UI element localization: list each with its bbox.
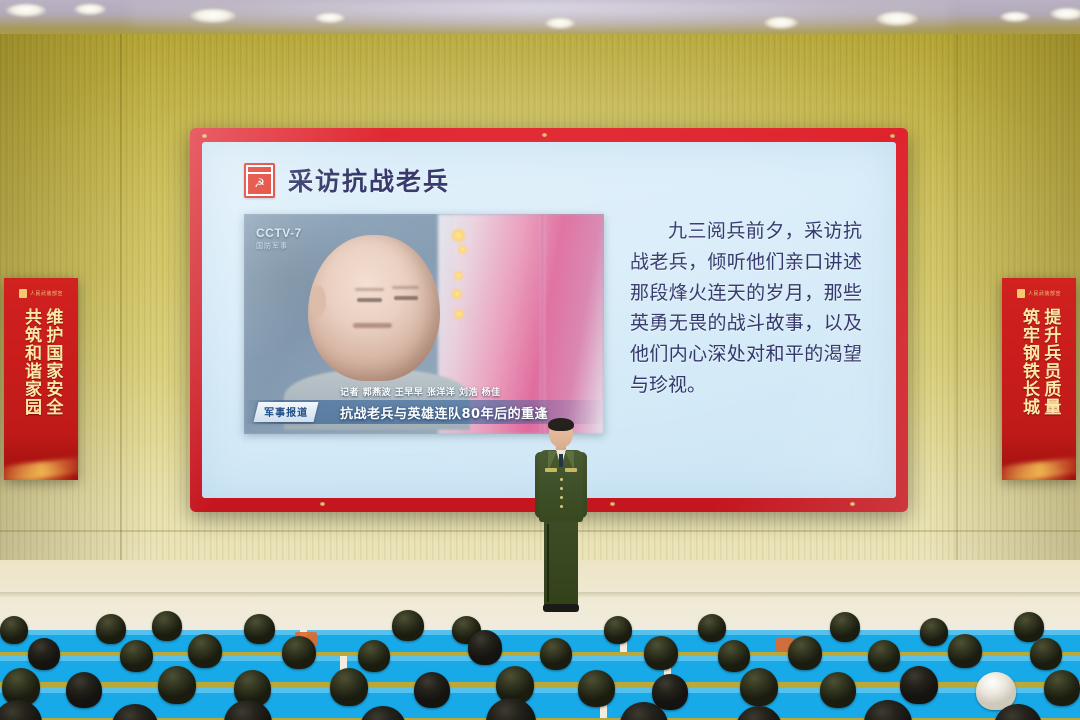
frame-bolt xyxy=(542,133,547,137)
audience-head xyxy=(604,616,632,644)
audience-head xyxy=(188,634,222,668)
audience-head xyxy=(948,634,982,668)
soldier-name-tag xyxy=(565,468,577,472)
emblem-icon xyxy=(19,289,27,298)
ceiling-downlight xyxy=(6,4,46,17)
soldier-button xyxy=(560,505,563,508)
ceiling-downlight xyxy=(74,4,106,15)
audience-head xyxy=(158,666,196,704)
auditorium-scene: 人民武装部宣 维护国家安全 共筑和谐家园 人民武装部宣 提升兵员质量 筑牢钢铁长… xyxy=(0,0,1080,720)
soldier-leg-split xyxy=(547,524,549,602)
video-headline: 抗战老兵与英雄连队80年后的重逢 xyxy=(340,403,548,422)
soldier-button xyxy=(560,478,563,481)
banner-subtitle: 人民武装部宣 xyxy=(30,290,63,297)
ceiling-downlight xyxy=(545,18,575,29)
audience-head xyxy=(718,640,750,672)
audience-head xyxy=(652,674,688,710)
audience-head xyxy=(414,672,450,708)
emblem-book-top xyxy=(248,167,271,172)
soldier-tie xyxy=(559,454,563,467)
audience-head xyxy=(788,636,822,670)
audience-head xyxy=(330,668,368,706)
soldier-trousers xyxy=(544,520,578,606)
veteran-head xyxy=(308,235,440,381)
ceiling-downlight xyxy=(876,12,918,26)
slide-paragraph: 九三阅兵前夕，采访抗战老兵，倾听他们亲口讲述那段烽火连天的岁月，那些英勇无畏的战… xyxy=(630,214,866,472)
audience-head xyxy=(0,616,28,644)
soldier-ribbon-bar xyxy=(545,468,557,472)
audience-area xyxy=(0,596,1080,720)
slide-title: 采访抗战老兵 xyxy=(288,162,450,198)
audience-head xyxy=(282,636,316,669)
wall-banner-left: 人民武装部宣 维护国家安全 共筑和谐家园 xyxy=(4,278,78,480)
wall-panel-seam xyxy=(120,34,122,594)
audience-head xyxy=(830,612,860,642)
cctv-channel-logo: CCTV-7 国防军事 xyxy=(256,226,302,251)
ceiling-downlight xyxy=(1050,8,1080,20)
wall-banner-right: 人民武装部宣 提升兵员质量 筑牢钢铁长城 xyxy=(1002,278,1076,480)
audience-head xyxy=(644,636,678,670)
program-badge-label: 军事报道 xyxy=(264,404,308,419)
cctv-logo-text: CCTV-7 xyxy=(256,226,302,240)
banner-decoration xyxy=(4,432,78,480)
frame-bolt xyxy=(610,502,615,506)
frame-bolt xyxy=(850,502,855,506)
emblem-book-body: ☭ xyxy=(248,174,271,194)
audience-head xyxy=(468,630,502,665)
banner-header: 人民武装部宣 xyxy=(1002,286,1076,300)
hammer-sickle-icon: ☭ xyxy=(254,177,265,189)
audience-head xyxy=(740,668,778,706)
emblem-icon xyxy=(1017,289,1025,298)
soldier-button xyxy=(560,496,563,499)
presenter-soldier xyxy=(531,420,591,620)
veteran-mouth xyxy=(353,323,393,328)
banner-decoration xyxy=(1002,432,1076,480)
audience-head xyxy=(96,614,126,644)
audience-head xyxy=(900,666,938,704)
audience-head xyxy=(920,618,948,646)
slide-header: ☭ 采访抗战老兵 xyxy=(244,162,450,198)
audience-head xyxy=(820,672,856,708)
banner-header: 人民武装部宣 xyxy=(4,286,78,300)
ceiling-downlight xyxy=(764,17,798,29)
program-badge: 军事报道 xyxy=(254,402,319,422)
audience-head xyxy=(578,670,615,707)
veteran-brow xyxy=(355,288,384,291)
soldier-button xyxy=(560,487,563,490)
audience-head xyxy=(1044,670,1080,706)
frame-bolt xyxy=(320,502,325,506)
video-credits: 记者 郭燕波 王早早 张洋洋 刘浩 杨佳 xyxy=(340,385,501,398)
audience-head xyxy=(120,640,153,672)
audience-head xyxy=(28,638,60,670)
banner-subtitle: 人民武装部宣 xyxy=(1028,290,1061,297)
ceiling-downlight xyxy=(1000,12,1030,22)
ceiling-downlight xyxy=(190,9,236,23)
audience-head xyxy=(392,610,424,641)
veteran-brow xyxy=(392,286,418,289)
veteran-eye xyxy=(394,296,418,300)
audience-head xyxy=(358,640,390,672)
veteran-ear xyxy=(310,285,326,317)
ceiling-downlight xyxy=(315,13,345,23)
audience-head xyxy=(152,611,182,641)
audience-head xyxy=(868,640,900,672)
audience-head xyxy=(66,672,102,708)
audience-head xyxy=(698,614,726,642)
audience-head xyxy=(1014,612,1044,642)
video-still: CCTV-7 国防军事 记者 郭燕波 王早早 张洋洋 刘浩 杨佳 军事报道 抗战… xyxy=(244,214,604,434)
soldier-hair xyxy=(548,418,574,431)
ccp-party-emblem-icon: ☭ xyxy=(244,163,275,198)
ceiling-glow xyxy=(130,0,950,34)
audience-head xyxy=(540,638,572,670)
frame-bolt xyxy=(202,134,207,138)
frame-bolt xyxy=(890,134,895,138)
audience-head xyxy=(1030,638,1062,670)
wall-panel-seam xyxy=(956,34,958,594)
audience-head xyxy=(244,614,275,644)
veteran-eye xyxy=(357,298,382,302)
cctv-logo-subtext: 国防军事 xyxy=(256,241,302,251)
